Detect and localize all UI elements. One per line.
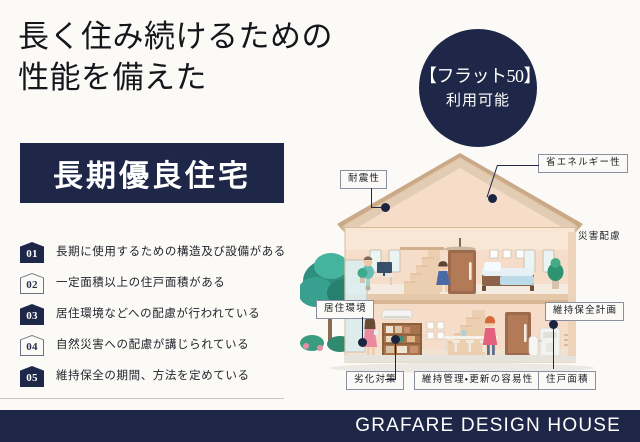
footer-bar: GRAFARE DESIGN HOUSE — [0, 410, 640, 442]
leader-line-seismic — [371, 188, 372, 208]
badge-number: 04 — [20, 335, 44, 356]
list-item: 05 維持保全の期間、方法を定めている — [20, 361, 300, 392]
flat50-badge: 【フラット50】 利用可能 — [419, 29, 537, 147]
title-plate: 長期優良住宅 — [20, 143, 284, 203]
requirement-text: 長期に使用するための構造及び設備がある — [56, 247, 286, 259]
leader-line-floor-area — [553, 325, 554, 369]
leader-line-degradation-2 — [395, 338, 396, 380]
poster-canvas: 長く住み続けるための 性能を備えた 長期優良住宅 01 長期に使用するための構造… — [0, 0, 640, 442]
callout-living-env: 居住環境 — [316, 300, 374, 319]
brand-name: GRAFARE DESIGN HOUSE — [355, 415, 621, 437]
flat50-subtitle: 利用可能 — [446, 89, 510, 110]
number-badge-icon: 02 — [20, 273, 44, 294]
badge-number: 02 — [20, 273, 44, 294]
requirement-text: 維持保全の期間、方法を定めている — [56, 371, 250, 383]
list-item: 01 長期に使用するための構造及び設備がある — [20, 237, 300, 268]
number-badge-icon: 05 — [20, 366, 44, 387]
callout-maintenance-plan: 維持保全計画 — [545, 302, 624, 321]
callout-dot-seismic — [381, 203, 390, 212]
number-badge-icon: 01 — [20, 242, 44, 263]
callout-dot-floor-area — [549, 320, 558, 329]
callout-disaster: 災害配慮 — [570, 228, 628, 247]
title-plate-label: 長期優良住宅 — [53, 151, 251, 195]
flat50-title: 【フラット50】 — [419, 66, 537, 87]
leader-line-energy — [497, 165, 539, 166]
callout-dot-energy — [488, 194, 497, 203]
badge-number: 01 — [20, 242, 44, 263]
callout-floor-area: 住戸面積 — [538, 371, 596, 390]
badge-number: 05 — [20, 366, 44, 387]
bookshelf — [382, 323, 422, 357]
list-item: 02 一定面積以上の住戸面積がある — [20, 268, 300, 299]
callout-dot-living-env — [358, 338, 367, 347]
requirement-text: 一定面積以上の住戸面積がある — [56, 278, 225, 290]
number-badge-icon: 03 — [20, 304, 44, 325]
requirement-list: 01 長期に使用するための構造及び設備がある 02 一定面積以上の住戸面積がある… — [20, 237, 300, 392]
badge-number: 03 — [20, 304, 44, 325]
requirement-text: 自然災害への配慮が講じられている — [56, 340, 249, 352]
number-badge-icon: 04 — [20, 335, 44, 356]
page-title: 長く住み続けるための 性能を備えた — [18, 16, 438, 98]
callout-ease-of-maintenance: 維持管理・更新の容易性 — [414, 371, 540, 390]
list-item: 04 自然災害への配慮が講じられている — [20, 330, 300, 361]
callout-dot-degradation — [391, 335, 400, 344]
requirement-text: 居住環境などへの配慮が行われている — [56, 309, 260, 321]
callout-seismic: 耐震性 — [340, 170, 387, 189]
callout-energy: 省エネルギー性 — [538, 154, 628, 173]
list-item: 03 居住環境などへの配慮が行われている — [20, 299, 300, 330]
divider — [0, 398, 284, 399]
